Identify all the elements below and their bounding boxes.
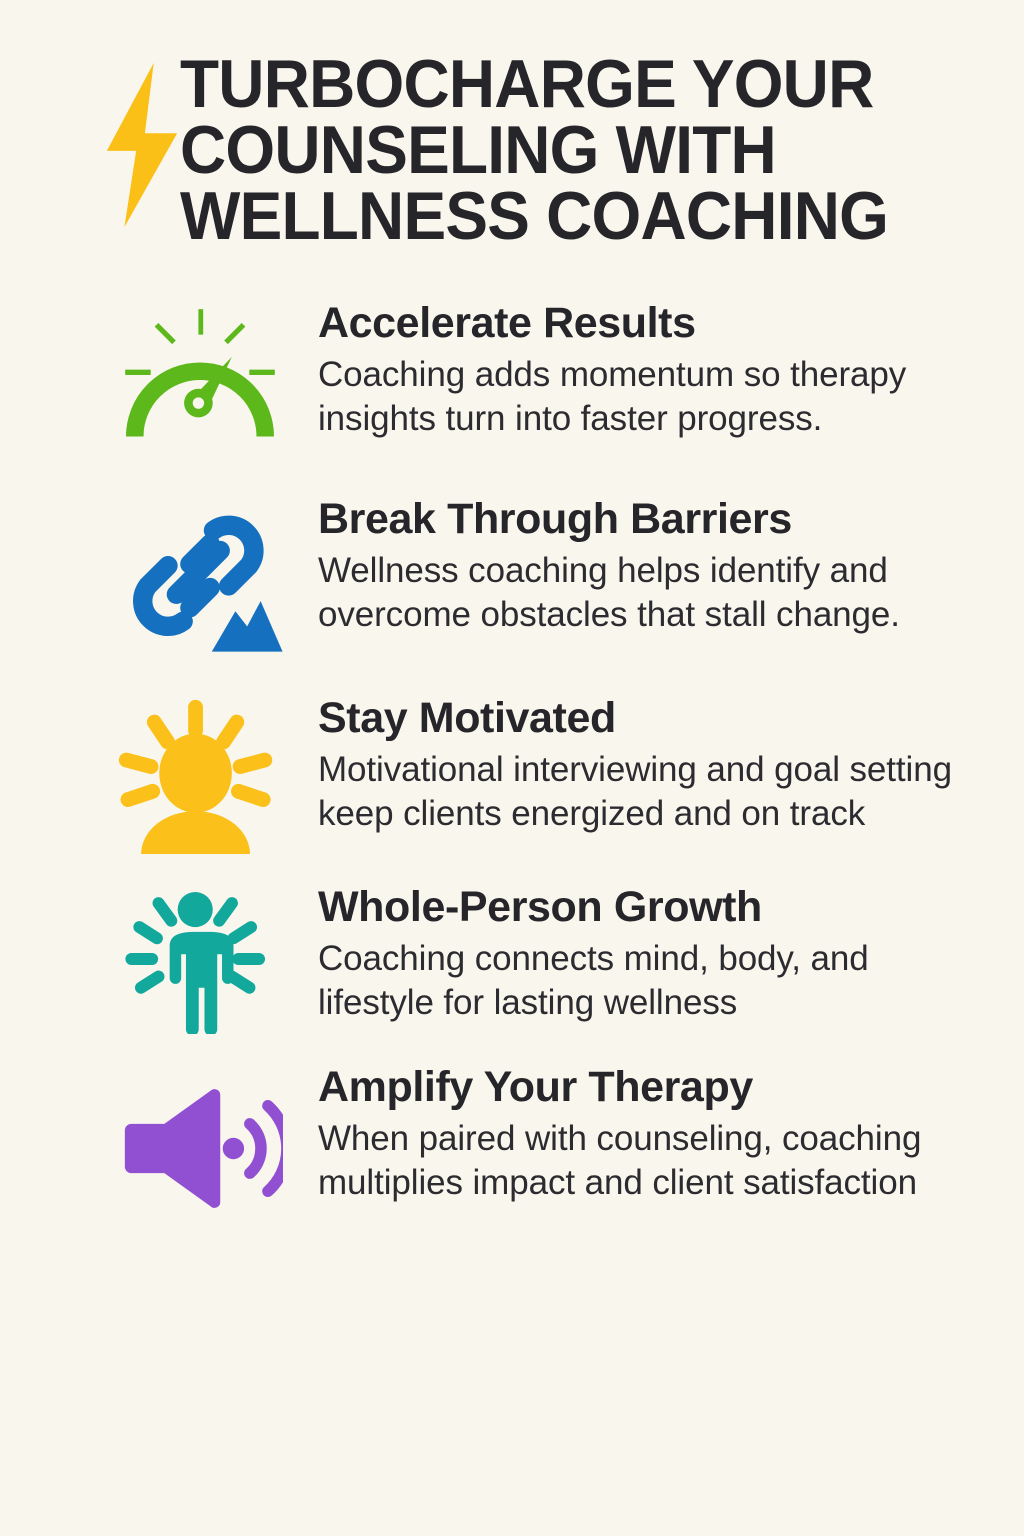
- lightning-bolt-icon: [98, 60, 186, 230]
- list-item-title: Whole-Person Growth: [318, 886, 984, 930]
- infographic-poster: Turbocharge Your Counseling With Wellnes…: [0, 0, 1024, 1536]
- list-item-title: Break Through Barriers: [318, 498, 984, 542]
- list-item-title: Stay Motivated: [318, 697, 984, 741]
- list-item: Amplify Your Therapy When paired with co…: [0, 1060, 984, 1211]
- list-item-description: When paired with counseling, coaching mu…: [318, 1117, 938, 1206]
- list-item: Accelerate Results Coaching adds momentu…: [0, 296, 984, 446]
- list-item-description: Coaching connects mind, body, and lifest…: [318, 937, 928, 1026]
- list-item-description: Coaching adds momentum so therapy insigh…: [318, 353, 938, 442]
- list-item: Stay Motivated Motivational interviewing…: [0, 691, 984, 854]
- speaker-volume-icon: [100, 1060, 300, 1211]
- list-item-description: Wellness coaching helps identify and ove…: [318, 549, 938, 638]
- list-item-title: Accelerate Results: [318, 302, 984, 346]
- list-item: Whole-Person Growth Coaching connects mi…: [0, 880, 984, 1034]
- list-item-title: Amplify Your Therapy: [318, 1066, 984, 1110]
- list-item-text: Whole-Person Growth Coaching connects mi…: [318, 880, 984, 1026]
- list-item-text: Accelerate Results Coaching adds momentu…: [318, 296, 984, 442]
- list-item-text: Amplify Your Therapy When paired with co…: [318, 1060, 984, 1206]
- poster-header: Turbocharge Your Counseling With Wellnes…: [0, 0, 1024, 250]
- list-item-text: Break Through Barriers Wellness coaching…: [318, 492, 984, 638]
- list-item: Break Through Barriers Wellness coaching…: [0, 492, 984, 655]
- broken-chain-mountain-icon: [100, 492, 300, 655]
- list-item-description: Motivational interviewing and goal setti…: [318, 748, 958, 837]
- speedometer-icon: [100, 296, 300, 446]
- list-item-text: Stay Motivated Motivational interviewing…: [318, 691, 984, 837]
- page-title: Turbocharge Your Counseling With Wellnes…: [180, 52, 936, 250]
- benefits-list: Accelerate Results Coaching adds momentu…: [0, 296, 1024, 1211]
- sun-person-icon: [100, 691, 300, 854]
- radiating-person-icon: [100, 880, 300, 1034]
